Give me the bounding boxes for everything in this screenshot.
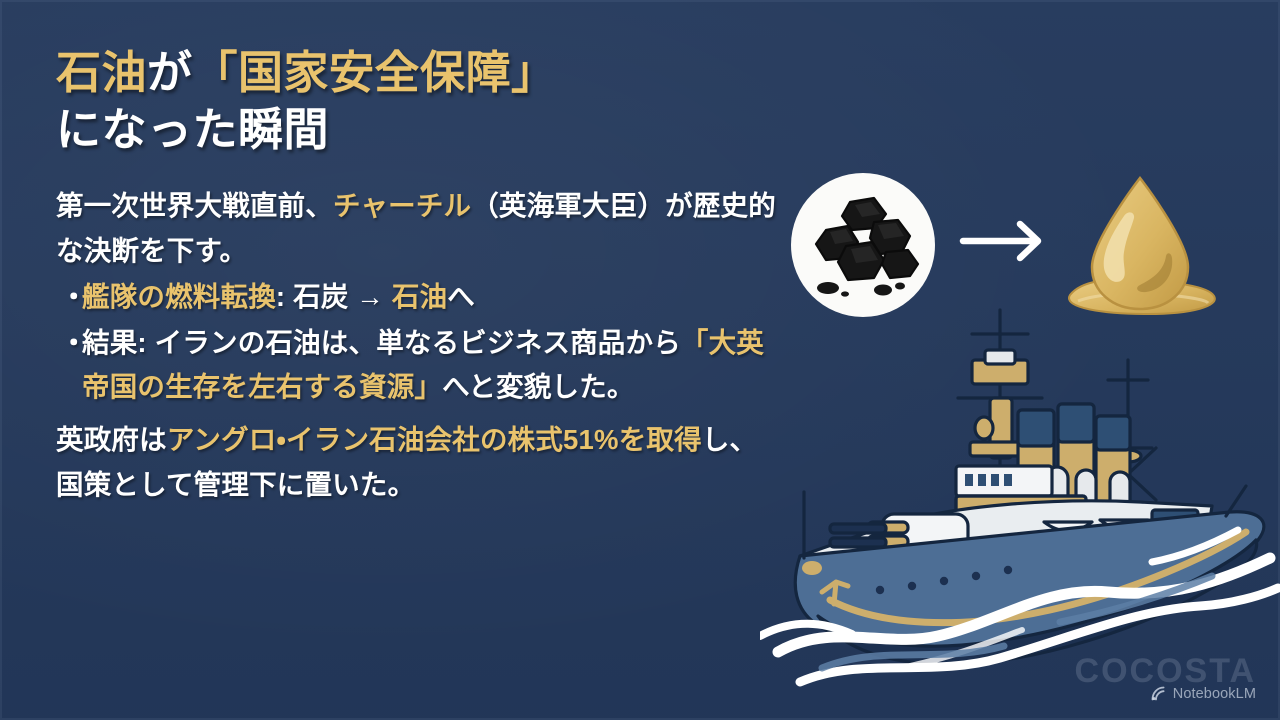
title-segment-oil: 石油 (56, 47, 147, 98)
title-segment-national-security: 「国家安全保障」 (193, 47, 557, 98)
list-item: ・結果: イランの石油は、単なるビジネス商品から「大英帝国の生存を左右する資源」… (56, 321, 776, 410)
illustration-area (760, 0, 1280, 720)
battleship-illustration (760, 300, 1280, 700)
coal-lumps-icon (788, 170, 938, 320)
lead-paragraph: 第一次世界大戦直前、チャーチル（英海軍大臣）が歴史的な決断を下す。 (56, 184, 776, 273)
bullet-marker-icon: ・ (60, 275, 88, 320)
notebooklm-label: NotebookLM (1173, 686, 1256, 702)
title-line-1: 石油が「国家安全保障」 (56, 44, 776, 101)
title-line-2: になった瞬間 (56, 101, 776, 158)
bullet-1-mid: : 石炭 → (276, 281, 392, 312)
text-column: 石油が「国家安全保障」 になった瞬間 第一次世界大戦直前、チャーチル（英海軍大臣… (56, 44, 776, 507)
bullet-list: ・艦隊の燃料転換: 石炭 → 石油へ ・結果: イランの石油は、単なるビジネス商… (56, 275, 776, 410)
bullet-1-highlight-oil: 石油 (392, 281, 447, 312)
page-title: 石油が「国家安全保障」 になった瞬間 (56, 44, 776, 158)
list-item: ・艦隊の燃料転換: 石炭 → 石油へ (56, 275, 776, 320)
right-arrow-icon (958, 218, 1053, 264)
body-content: 第一次世界大戦直前、チャーチル（英海軍大臣）が歴史的な決断を下す。 ・艦隊の燃料… (56, 184, 776, 507)
notebooklm-icon (1151, 686, 1168, 701)
bullet-2-tail: へと変貌した。 (442, 371, 635, 402)
bullet-2-label: 結果: イランの石油は、単なるビジネス商品から (82, 327, 681, 358)
lead-text-1: 第一次世界大戦直前、 (56, 190, 333, 221)
bullet-marker-icon: ・ (60, 321, 88, 366)
brand-watermark: COCOSTA (1075, 654, 1256, 688)
bullet-1-tail: へ (447, 281, 475, 312)
closing-text-1: 英政府は (56, 424, 167, 455)
notebooklm-badge: NotebookLM (1151, 686, 1256, 702)
bullet-1-label: 艦隊の燃料転換 (82, 281, 276, 312)
title-segment-ga: が (147, 47, 193, 98)
closing-highlight-apoc: アングロ・イラン石油会社の株式51%を取得 (167, 424, 702, 455)
closing-paragraph: 英政府はアングロ・イラン石油会社の株式51%を取得し、国策として管理下に置いた。 (56, 418, 776, 507)
slide-canvas: 石油が「国家安全保障」 になった瞬間 第一次世界大戦直前、チャーチル（英海軍大臣… (0, 0, 1280, 720)
watermark: COCOSTA NotebookLM (1075, 654, 1256, 706)
lead-highlight-churchill: チャーチル (333, 190, 471, 221)
